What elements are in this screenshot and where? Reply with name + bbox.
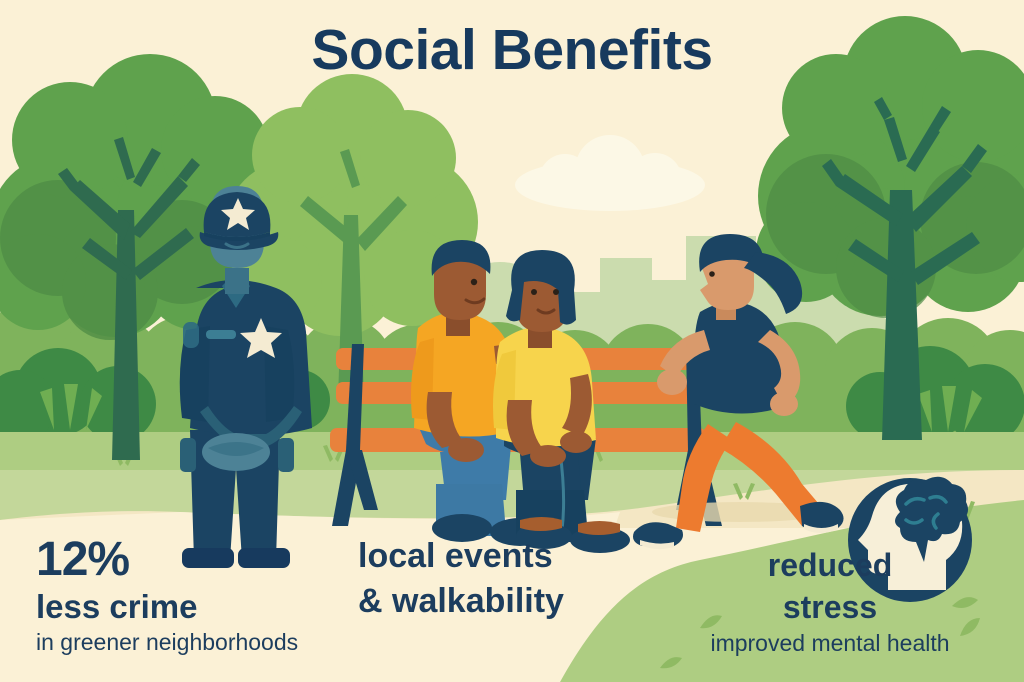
stat-center-line1: local events [358,539,564,573]
stat-center-line2: & walkability [358,584,564,618]
page-title: Social Benefits [0,22,1024,79]
stat-block-events: local events & walkability [358,539,564,618]
stat-right-sub: improved mental health [680,632,980,655]
stat-right-line1: reduced [680,549,980,581]
stat-block-stress: reduced stress improved mental health [680,549,980,655]
infographic-poster: Social Benefits 12% less crime in greene… [0,0,1024,682]
stat-left-headline: less crime [36,590,298,623]
stat-left-value: 12% [36,536,298,584]
stat-left-sub: in greener neighborhoods [36,631,298,654]
stat-block-crime: 12% less crime in greener neighborhoods [36,536,298,654]
stat-right-line2: stress [680,591,980,623]
